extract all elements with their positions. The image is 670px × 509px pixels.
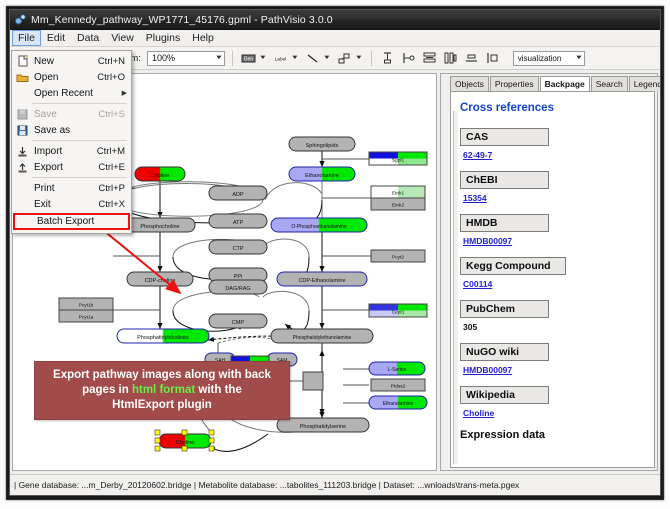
node-phosphocholine: Phosphocholine bbox=[125, 218, 195, 232]
node-sphingolipids: Sphingolipids bbox=[289, 137, 355, 151]
menu-item-export-accel: Ctrl+E bbox=[98, 162, 127, 173]
node-unlabeled-box bbox=[303, 372, 323, 390]
zoom-combobox[interactable]: 100% ▼ bbox=[147, 51, 225, 66]
align-width-icon[interactable] bbox=[421, 50, 438, 67]
xref-value-kegg-compound[interactable]: C00114 bbox=[463, 279, 645, 289]
node-etnk2: Etnk2 bbox=[371, 198, 425, 210]
node-dag-rag: DAG/RAG bbox=[209, 280, 267, 294]
menu-item-new-label: New bbox=[31, 56, 98, 67]
backpage-scroll-gutter[interactable] bbox=[453, 111, 458, 464]
gene-tool-chevron-icon[interactable]: ▼ bbox=[259, 55, 267, 61]
menu-item-save-as-label: Save as bbox=[31, 125, 125, 136]
menu-item-save-accel: Ctrl+S bbox=[98, 109, 127, 120]
cross-references-title: Cross references bbox=[460, 102, 645, 114]
tab-search[interactable]: Search bbox=[591, 76, 628, 91]
new-document-icon bbox=[14, 54, 31, 68]
node-pcyt1b: Pcyt1b bbox=[59, 298, 113, 310]
application-window: Mm_Kennedy_pathway_WP1771_45176.gpml - P… bbox=[6, 6, 664, 500]
callout-line2-post: with the bbox=[195, 384, 242, 396]
svg-text:L-Serine: L-Serine bbox=[388, 367, 407, 373]
zoom-value: 100% bbox=[152, 53, 175, 63]
svg-text:Phosphatidylethanolamine: Phosphatidylethanolamine bbox=[293, 335, 352, 341]
align-top-icon[interactable] bbox=[379, 50, 396, 67]
side-panel-tabs[interactable]: Objects Properties Backpage Search Legen… bbox=[441, 74, 657, 91]
node-choline-top: Choline bbox=[135, 167, 185, 181]
export-icon bbox=[14, 160, 31, 174]
svg-text:PPi: PPi bbox=[234, 274, 243, 280]
svg-text:Pcyt2: Pcyt2 bbox=[392, 255, 404, 261]
menu-file[interactable]: File bbox=[12, 30, 41, 46]
menu-plugins[interactable]: Plugins bbox=[140, 30, 186, 46]
xref-value-wikipedia[interactable]: Choline bbox=[463, 408, 645, 418]
status-text: | Gene database: ...m_Derby_20120602.bri… bbox=[14, 480, 519, 490]
menu-item-exit[interactable]: Exit Ctrl+X bbox=[12, 196, 131, 212]
menu-item-open-label: Open bbox=[31, 72, 97, 83]
gene-product-tool-icon[interactable]: Gen bbox=[240, 50, 257, 67]
xref-value-pubchem: 305 bbox=[463, 322, 645, 332]
menu-item-new[interactable]: New Ctrl+N bbox=[12, 53, 131, 69]
common-width-icon[interactable] bbox=[484, 50, 501, 67]
blank-icon bbox=[14, 86, 31, 100]
menu-divider-1 bbox=[32, 103, 127, 104]
xref-db-chebi: ChEBI bbox=[460, 171, 549, 189]
visualization-value: visualization bbox=[518, 54, 562, 63]
menu-item-open[interactable]: Open Ctrl+O bbox=[12, 69, 131, 85]
xref-value-cas[interactable]: 62-49-7 bbox=[463, 150, 645, 160]
callout-highlight: html format bbox=[132, 384, 195, 396]
svg-text:DAG/RAG: DAG/RAG bbox=[225, 286, 250, 292]
xref-value-nugo-wiki[interactable]: HMDB00097 bbox=[463, 365, 645, 375]
menu-item-export-label: Export bbox=[31, 162, 98, 173]
menu-bar[interactable]: File Edit Data View Plugins Help bbox=[10, 30, 660, 47]
stack-bottom-icon[interactable] bbox=[463, 50, 480, 67]
node-ethanolamine-top: Ethanolamine bbox=[289, 167, 355, 181]
svg-text:Phosphatidylcholines: Phosphatidylcholines bbox=[137, 335, 189, 341]
svg-text:Sphingolipids: Sphingolipids bbox=[306, 143, 339, 149]
menu-help[interactable]: Help bbox=[186, 30, 220, 46]
node-cept1: Cept1 bbox=[369, 304, 427, 317]
menu-item-export[interactable]: Export Ctrl+E bbox=[12, 159, 131, 175]
node-pcyt1a: Pcyt1a bbox=[59, 310, 113, 322]
svg-text:Pcyt1b: Pcyt1b bbox=[79, 303, 94, 309]
menu-divider-3 bbox=[32, 177, 127, 178]
node-choline-bottom-selected: Choline bbox=[155, 430, 214, 451]
menu-item-import[interactable]: Import Ctrl+M bbox=[12, 143, 131, 159]
menu-item-open-recent[interactable]: Open Recent ▶ bbox=[12, 85, 131, 101]
svg-text:Etnk2: Etnk2 bbox=[392, 203, 405, 209]
svg-text:O-Phosphoethanolamine: O-Phosphoethanolamine bbox=[291, 224, 347, 230]
svg-text:Ethanolamine: Ethanolamine bbox=[383, 401, 414, 407]
file-menu-dropdown[interactable]: New Ctrl+N Open Ctrl+O Open Recent ▶ Sav… bbox=[11, 50, 132, 234]
interaction-tool-chevron-icon[interactable]: ▼ bbox=[355, 55, 363, 61]
blank-icon-2 bbox=[14, 181, 31, 195]
svg-text:Choline: Choline bbox=[176, 440, 195, 446]
menu-item-batch-export[interactable]: Batch Export bbox=[13, 213, 130, 230]
xref-db-hmdb: HMDB bbox=[460, 214, 549, 232]
line-tool-icon[interactable] bbox=[304, 50, 321, 67]
svg-text:ATP: ATP bbox=[233, 220, 244, 226]
node-l-serine: L-Serine bbox=[369, 362, 425, 375]
node-cmp: CMP bbox=[209, 314, 267, 328]
svg-text:Ethanolamine: Ethanolamine bbox=[305, 173, 339, 179]
menu-item-print[interactable]: Print Ctrl+P bbox=[12, 180, 131, 196]
xref-db-wikipedia: Wikipedia bbox=[460, 386, 549, 404]
node-o-phosphoethanolamine: O-Phosphoethanolamine bbox=[271, 218, 367, 232]
status-bar: | Gene database: ...m_Derby_20120602.bri… bbox=[10, 474, 660, 495]
chevron-down-icon-2: ▼ bbox=[574, 55, 583, 61]
label-tool-icon[interactable]: Label bbox=[272, 50, 289, 67]
align-columns-icon[interactable] bbox=[442, 50, 459, 67]
menu-item-exit-accel: Ctrl+X bbox=[98, 199, 127, 210]
svg-text:Cept1: Cept1 bbox=[392, 310, 405, 316]
chevron-down-icon: ▼ bbox=[214, 55, 223, 61]
submenu-arrow-icon: ▶ bbox=[122, 89, 127, 97]
svg-text:Ptdss2: Ptdss2 bbox=[391, 384, 406, 390]
node-phosphatidylserine: Phosphatidylserine bbox=[277, 418, 369, 432]
expression-data-heading: Expression data bbox=[460, 429, 645, 441]
save-as-icon bbox=[14, 123, 31, 137]
visualization-combobox[interactable]: visualization ▼ bbox=[513, 51, 585, 66]
menu-item-save-as[interactable]: Save as bbox=[12, 122, 131, 138]
title-bar: Mm_Kennedy_pathway_WP1771_45176.gpml - P… bbox=[10, 10, 660, 30]
blank-icon-3 bbox=[14, 197, 31, 211]
tab-objects[interactable]: Objects bbox=[450, 76, 489, 91]
menu-divider-2 bbox=[32, 140, 127, 141]
pathvisio-app-icon bbox=[14, 13, 27, 26]
svg-text:Sgpl1: Sgpl1 bbox=[392, 158, 405, 164]
node-etnk1: Etnk1 bbox=[371, 186, 425, 198]
blank-icon-4 bbox=[17, 215, 34, 229]
svg-text:Label: Label bbox=[275, 56, 287, 62]
menu-item-print-accel: Ctrl+P bbox=[98, 183, 127, 194]
tab-legend[interactable]: Legend bbox=[629, 76, 661, 91]
svg-text:CMP: CMP bbox=[232, 320, 245, 326]
callout-text: Export pathway images along with back pa… bbox=[48, 368, 276, 413]
node-ptdss2: Ptdss2 bbox=[371, 379, 425, 391]
backpage-content: Cross references CAS 62-49-7 ChEBI 15354… bbox=[450, 91, 655, 468]
callout-line3: HtmlExport plugin bbox=[112, 399, 212, 411]
svg-text:CDP-choline: CDP-choline bbox=[145, 278, 176, 284]
callout-line1: Export pathway images along with back bbox=[53, 369, 271, 381]
window-title: Mm_Kennedy_pathway_WP1771_45176.gpml - P… bbox=[31, 14, 333, 26]
menu-item-batch-export-label: Batch Export bbox=[34, 216, 124, 227]
menu-view[interactable]: View bbox=[105, 30, 140, 46]
label-tool-chevron-icon[interactable]: ▼ bbox=[291, 55, 299, 61]
xref-value-hmdb[interactable]: HMDB00097 bbox=[463, 236, 645, 246]
node-ethanolamine-bottom: Ethanolamine bbox=[369, 396, 427, 409]
tab-properties[interactable]: Properties bbox=[490, 76, 539, 91]
menu-item-open-recent-label: Open Recent bbox=[31, 88, 122, 99]
annotation-callout: Export pathway images along with back pa… bbox=[34, 361, 290, 420]
node-phosphatidylethanolamine: Phosphatidylethanolamine bbox=[271, 329, 373, 343]
xref-db-cas: CAS bbox=[460, 128, 549, 146]
menu-edit[interactable]: Edit bbox=[41, 30, 71, 46]
callout-line2-pre: pages in bbox=[82, 384, 132, 396]
xref-db-nugo-wiki: NuGO wiki bbox=[460, 343, 549, 361]
menu-item-print-label: Print bbox=[31, 183, 98, 194]
svg-text:Gen: Gen bbox=[244, 56, 254, 62]
line-tool-chevron-icon[interactable]: ▼ bbox=[323, 55, 331, 61]
menu-item-exit-label: Exit bbox=[31, 199, 98, 210]
import-icon bbox=[14, 144, 31, 158]
svg-text:CDP-Ethanolamine: CDP-Ethanolamine bbox=[298, 278, 345, 284]
menu-item-import-accel: Ctrl+M bbox=[97, 146, 127, 157]
interaction-tool-icon[interactable] bbox=[336, 50, 353, 67]
xref-value-chebi[interactable]: 15354 bbox=[463, 193, 645, 203]
node-phosphatidylcholines: Phosphatidylcholines bbox=[117, 329, 209, 343]
node-atp: ATP bbox=[209, 214, 267, 228]
menu-data[interactable]: Data bbox=[71, 30, 105, 46]
svg-text:Phosphatidylserine: Phosphatidylserine bbox=[300, 424, 346, 430]
node-sgpl1: Sgpl1 bbox=[369, 152, 427, 165]
save-disk-icon bbox=[14, 107, 31, 121]
window-inner: Mm_Kennedy_pathway_WP1771_45176.gpml - P… bbox=[9, 9, 661, 496]
svg-text:Etnk1: Etnk1 bbox=[392, 191, 405, 197]
menu-item-import-label: Import bbox=[31, 146, 97, 157]
svg-text:ADP: ADP bbox=[232, 192, 244, 198]
node-cdp-ethanolamine: CDP-Ethanolamine bbox=[277, 272, 367, 286]
node-pcyt2: Pcyt2 bbox=[371, 250, 425, 262]
node-adp: ADP bbox=[209, 186, 267, 200]
screenshot-root: Mm_Kennedy_pathway_WP1771_45176.gpml - P… bbox=[0, 0, 670, 509]
toolbar-separator-2 bbox=[371, 51, 372, 66]
svg-text:Phosphocholine: Phosphocholine bbox=[140, 224, 179, 230]
side-panel: Objects Properties Backpage Search Legen… bbox=[440, 73, 658, 471]
svg-text:Pcyt1a: Pcyt1a bbox=[79, 315, 94, 321]
node-cdp-choline: CDP-choline bbox=[127, 272, 193, 286]
xref-db-kegg-compound: Kegg Compound bbox=[460, 257, 566, 275]
menu-item-new-accel: Ctrl+N bbox=[98, 56, 127, 67]
menu-item-open-accel: Ctrl+O bbox=[97, 72, 127, 83]
node-ctp: CTP bbox=[209, 240, 267, 254]
svg-text:Choline: Choline bbox=[151, 173, 170, 179]
xref-db-pubchem: PubChem bbox=[460, 300, 549, 318]
menu-item-save: Save Ctrl+S bbox=[12, 106, 131, 122]
open-folder-icon bbox=[14, 70, 31, 84]
svg-text:CTP: CTP bbox=[233, 246, 244, 252]
toolbar-separator bbox=[232, 51, 233, 66]
tab-backpage[interactable]: Backpage bbox=[540, 76, 590, 92]
align-left-icon[interactable] bbox=[400, 50, 417, 67]
menu-item-save-label: Save bbox=[31, 109, 98, 120]
